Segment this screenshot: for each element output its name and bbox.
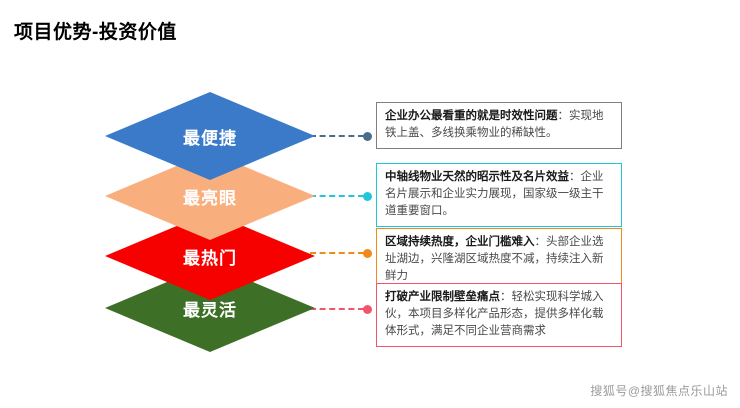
connector-dot-3 (363, 305, 372, 314)
callout-lead-3: 打破产业限制壁垒痛点 (385, 291, 500, 303)
diamond-stack: 最便捷 最亮眼 最热门 最灵活 (105, 92, 315, 347)
diamond-shape-0 (105, 92, 315, 180)
connector-line-1 (310, 195, 364, 197)
slide-canvas: 项目优势-投资价值 最便捷 最亮眼 最热门 最灵活 (0, 0, 740, 408)
callout-lead-1: 中轴线物业天然的昭示性及名片效益 (385, 171, 569, 183)
connector-dot-1 (363, 192, 372, 201)
diamond-item-0[interactable]: 最便捷 (105, 92, 315, 180)
connector-3 (310, 303, 372, 315)
watermark: 搜狐号@搜狐焦点乐山站 (590, 382, 728, 399)
callout-box-3[interactable]: 打破产业限制壁垒痛点：轻松实现科学城入伙，本项目多样化产品形态，提供多样化载体形… (376, 283, 622, 347)
connector-dot-0 (363, 132, 372, 141)
connector-2 (310, 247, 372, 259)
callout-lead-0: 企业办公最看重的就是时效性问题 (385, 110, 558, 122)
callout-lead-2: 区域持续热度，企业门槛难入 (385, 236, 535, 248)
callout-box-0[interactable]: 企业办公最看重的就是时效性问题：实现地铁上盖、多线换乘物业的稀缺性。 (376, 102, 622, 149)
connector-line-0 (310, 135, 364, 137)
page-title: 项目优势-投资价值 (14, 17, 177, 44)
connector-dot-2 (363, 249, 372, 258)
callout-box-1[interactable]: 中轴线物业天然的昭示性及名片效益：企业名片展示和企业实力展现，国家级一级主干道重… (376, 163, 622, 227)
connector-0 (310, 130, 372, 142)
connector-line-3 (310, 308, 364, 310)
connector-1 (310, 190, 372, 202)
connector-line-2 (310, 252, 364, 254)
